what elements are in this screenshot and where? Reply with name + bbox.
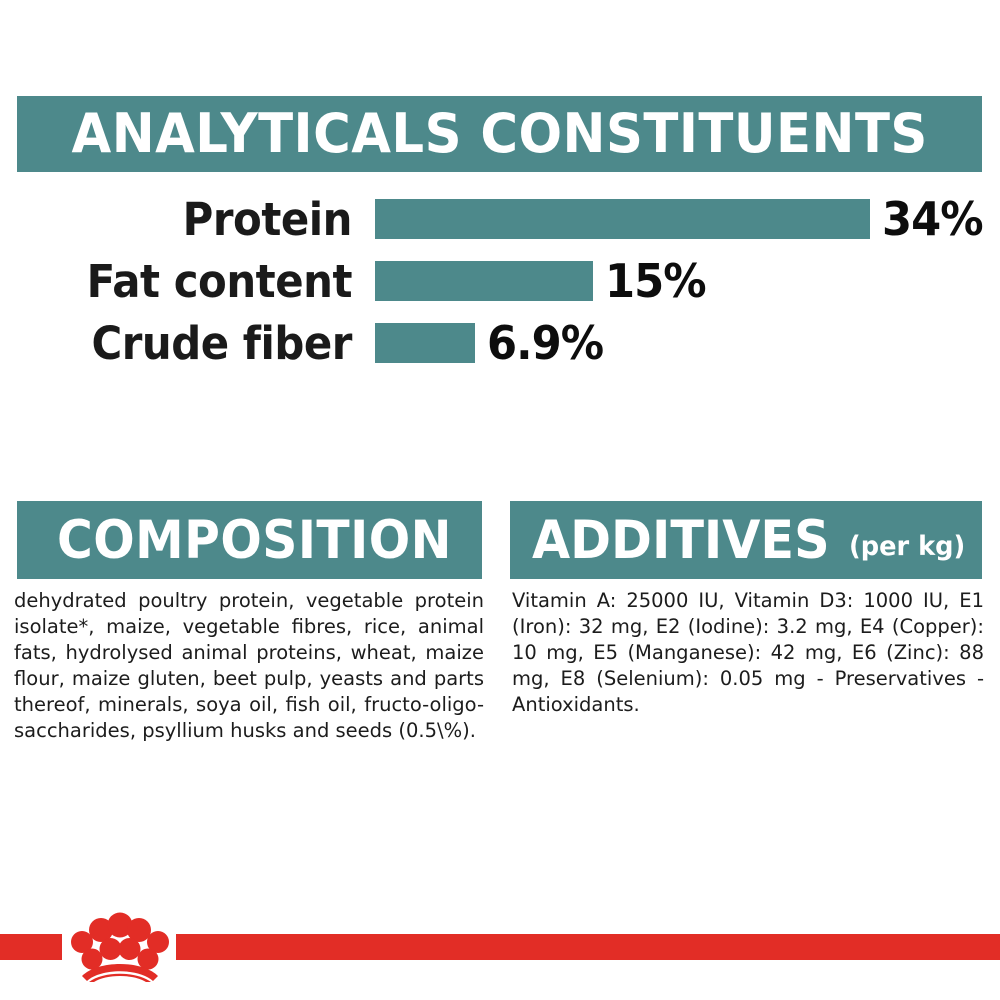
chart-category-label: Crude fiber (25, 321, 352, 366)
composition-heading-text: COMPOSITION (57, 514, 452, 567)
additives-body-text: Vitamin A: 25000 IU, Vitamin D3: 1000 IU… (512, 588, 984, 718)
chart-category-label: Fat content (25, 259, 352, 304)
additives-header: ADDITIVES (per kg) (510, 501, 982, 579)
royal-canin-crown-icon (62, 902, 178, 982)
analyticals-bar-chart: Protein 34% Fat content 15% Crude fiber … (0, 196, 1000, 386)
rule-segment-left (0, 934, 62, 960)
chart-bar (375, 261, 593, 301)
chart-bar (375, 199, 870, 239)
chart-row: Crude fiber 6.9% (0, 320, 1000, 366)
chart-value-label: 15% (605, 258, 706, 304)
chart-row: Fat content 15% (0, 258, 1000, 304)
chart-category-label: Protein (25, 197, 352, 242)
composition-header: COMPOSITION (17, 501, 482, 579)
chart-bar-track: 6.9% (375, 320, 611, 366)
analyticals-heading-text: ANALYTICALS CONSTITUENTS (71, 107, 927, 161)
chart-value-label: 6.9% (487, 320, 603, 366)
composition-body-text: dehydrated poultry protein, vegetable pr… (14, 588, 484, 744)
analyticals-constituents-header: ANALYTICALS CONSTITUENTS (17, 96, 982, 172)
additives-heading-suffix: (per kg) (849, 533, 965, 560)
chart-bar (375, 323, 475, 363)
chart-bar-track: 34% (375, 196, 989, 242)
chart-row: Protein 34% (0, 196, 1000, 242)
rule-segment-right (176, 934, 1000, 960)
chart-value-label: 34% (882, 196, 983, 242)
nutrition-panel: ANALYTICALS CONSTITUENTS Protein 34% Fat… (0, 0, 1000, 1000)
chart-bar-track: 15% (375, 258, 712, 304)
additives-heading-text: ADDITIVES (532, 514, 830, 567)
